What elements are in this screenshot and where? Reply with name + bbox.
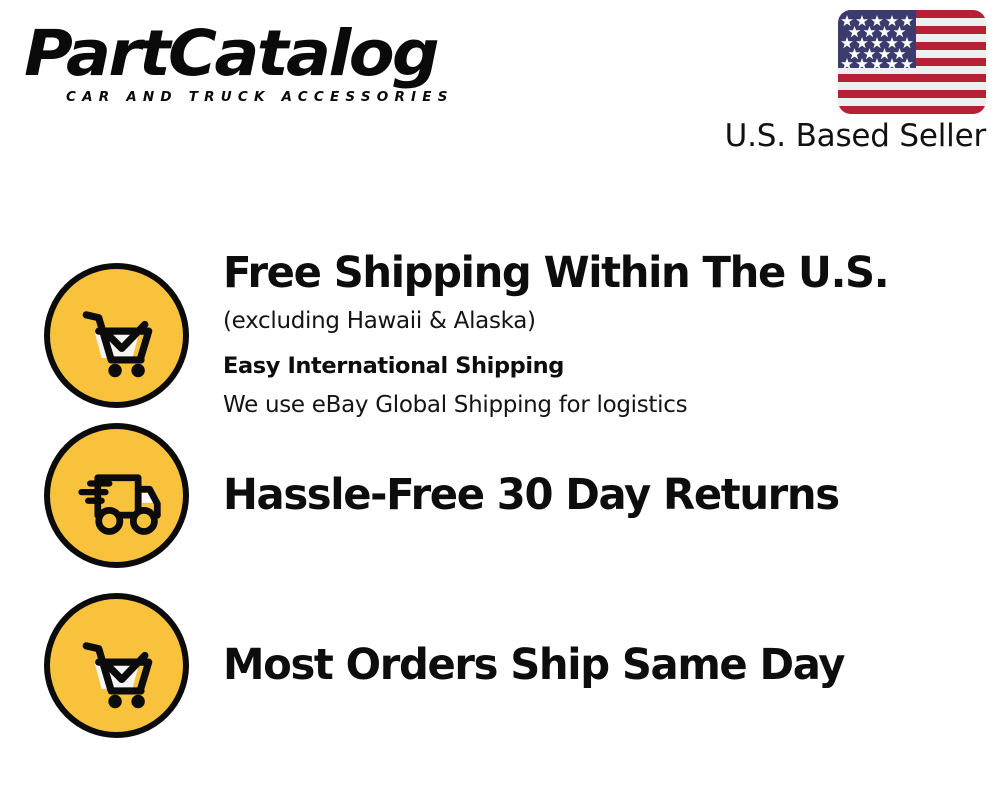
feature-row: Hassle-Free 30 Day Returns bbox=[44, 423, 984, 568]
us-based-seller-label: U.S. Based Seller bbox=[722, 119, 986, 153]
feature-text: Free Shipping Within The U.S. (excluding… bbox=[189, 251, 984, 419]
delivery-truck-icon bbox=[44, 423, 189, 568]
feature-text: Most Orders Ship Same Day bbox=[189, 643, 984, 688]
brand-tagline: CAR AND TRUCK ACCESSORIES bbox=[66, 89, 494, 105]
feature-headline: Free Shipping Within The U.S. bbox=[223, 251, 961, 296]
feature-row: Free Shipping Within The U.S. (excluding… bbox=[44, 251, 984, 419]
seller-info-banner: PartCatalog CAR AND TRUCK ACCESSORIES bbox=[0, 0, 1000, 800]
shopping-cart-check-icon bbox=[44, 593, 189, 738]
feature-headline: Hassle-Free 30 Day Returns bbox=[223, 473, 961, 518]
feature-row: Most Orders Ship Same Day bbox=[44, 593, 984, 738]
feature-headline: Most Orders Ship Same Day bbox=[223, 643, 961, 688]
feature-subtext: (excluding Hawaii & Alaska) bbox=[223, 308, 984, 336]
shopping-cart-check-icon bbox=[44, 263, 189, 408]
feature-subtext-secondary: We use eBay Global Shipping for logistic… bbox=[223, 392, 984, 420]
feature-text: Hassle-Free 30 Day Returns bbox=[189, 473, 984, 518]
brand-logo: PartCatalog CAR AND TRUCK ACCESSORIES bbox=[24, 22, 494, 105]
us-flag-icon bbox=[838, 10, 986, 114]
brand-wordmark: PartCatalog bbox=[24, 22, 522, 85]
feature-subtext-strong: Easy International Shipping bbox=[223, 353, 984, 380]
